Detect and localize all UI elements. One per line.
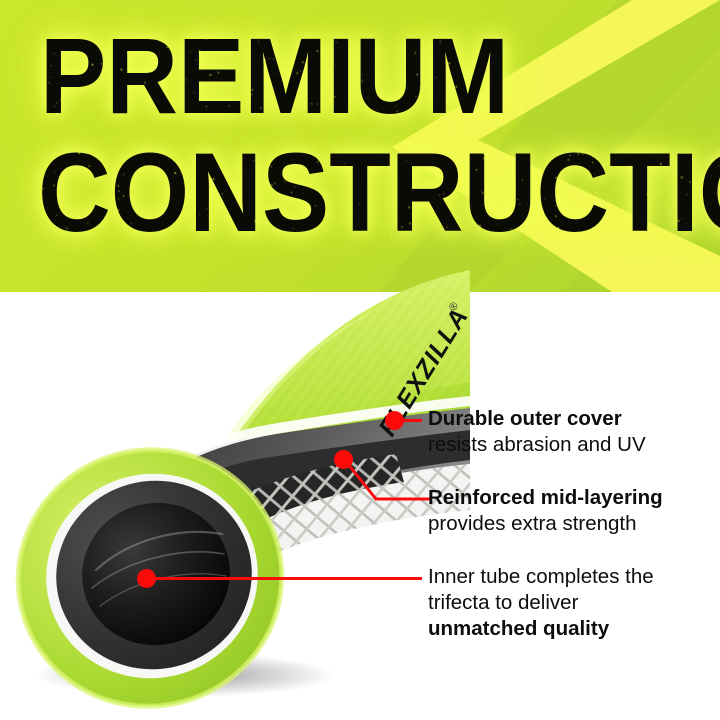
banner-headline-line2: CONSTRUCTION [38,137,720,249]
callout-bold-inner-tube: unmatched quality [428,617,609,640]
callout-rest-durable-outer-cover: resists abrasion and UV [428,433,646,456]
callout-bold-reinforced-mid-layering: Reinforced mid-layering [428,486,663,509]
infographic-canvas: PREMIUM CONSTRUCTION [0,0,720,720]
callout-line2-inner-tube: trifecta to deliver [428,591,578,614]
callout-leader-inner-tube [146,577,422,580]
callout-text-inner-tube: Inner tube completes the trifecta to del… [428,564,718,642]
callout-text-durable-outer-cover: Durable outer cover resists abrasion and… [428,406,718,458]
header-banner: PREMIUM CONSTRUCTION [0,0,720,292]
callout-leader-durable-outer-cover [394,419,422,422]
callout-bold-durable-outer-cover: Durable outer cover [428,407,622,430]
callout-line1-inner-tube: Inner tube completes the [428,565,654,588]
callout-leader-reinforced-mid-layering [340,455,432,507]
banner-headline-line1: PREMIUM [40,22,509,130]
callout-rest-reinforced-mid-layering: provides extra strength [428,512,637,535]
banner-headline-group: PREMIUM CONSTRUCTION [0,0,720,292]
callout-text-reinforced-mid-layering: Reinforced mid-layering provides extra s… [428,485,718,537]
